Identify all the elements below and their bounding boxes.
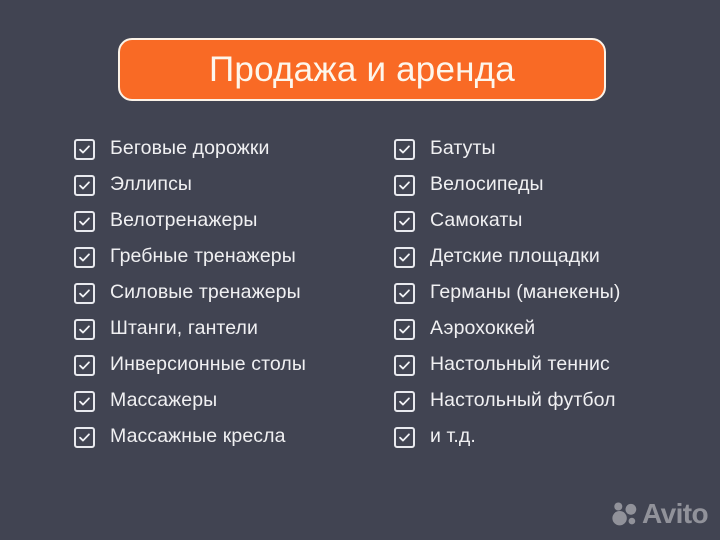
checklist-item-label: Штанги, гантели (110, 319, 258, 339)
checkbox-checked-icon[interactable] (74, 139, 95, 160)
checkbox-checked-icon[interactable] (394, 211, 415, 232)
page-title: Продажа и аренда (209, 52, 515, 87)
checklist-item-label: Силовые тренажеры (110, 283, 301, 303)
checklist-item[interactable]: Велотренажеры (74, 203, 384, 239)
checklist-item[interactable]: Настольный теннис (394, 347, 694, 383)
checklist-item-label: Велотренажеры (110, 211, 258, 231)
checklist-item-label: Массажеры (110, 391, 217, 411)
checklist-item[interactable]: Гребные тренажеры (74, 239, 384, 275)
checklist-item[interactable]: Батуты (394, 131, 694, 167)
checklist-item[interactable]: Аэрохоккей (394, 311, 694, 347)
checklist-item[interactable]: Силовые тренажеры (74, 275, 384, 311)
checklist-item[interactable]: Беговые дорожки (74, 131, 384, 167)
checkbox-checked-icon[interactable] (394, 247, 415, 268)
title-banner: Продажа и аренда (118, 38, 606, 101)
checklist-item-label: Аэрохоккей (430, 319, 535, 339)
checkbox-checked-icon[interactable] (74, 355, 95, 376)
checklist-item-label: Батуты (430, 139, 496, 159)
checklist-item-label: Велосипеды (430, 175, 544, 195)
checkbox-checked-icon[interactable] (394, 355, 415, 376)
checkbox-checked-icon[interactable] (74, 319, 95, 340)
avito-dots-logo-icon (612, 502, 637, 526)
checkbox-checked-icon[interactable] (394, 283, 415, 304)
checkbox-checked-icon[interactable] (74, 175, 95, 196)
checkbox-checked-icon[interactable] (394, 319, 415, 340)
checklist-item-label: Германы (манекены) (430, 283, 620, 303)
checklist-item-label: Гребные тренажеры (110, 247, 296, 267)
checklist-item-label: Настольный футбол (430, 391, 616, 411)
checkbox-checked-icon[interactable] (394, 391, 415, 412)
checklist-item[interactable]: Германы (манекены) (394, 275, 694, 311)
checklist-item-label: Самокаты (430, 211, 523, 231)
checkbox-checked-icon[interactable] (74, 283, 95, 304)
checklist-column-left: Беговые дорожкиЭллипсыВелотренажерыГребн… (74, 131, 384, 455)
checkbox-checked-icon[interactable] (394, 427, 415, 448)
checklist-item-label: Беговые дорожки (110, 139, 269, 159)
checklist-item[interactable]: Массажные кресла (74, 419, 384, 455)
checklist-item[interactable]: Массажеры (74, 383, 384, 419)
checklist-item[interactable]: Велосипеды (394, 167, 694, 203)
checklist-item-label: и т.д. (430, 427, 476, 447)
checkbox-checked-icon[interactable] (74, 391, 95, 412)
checkbox-checked-icon[interactable] (74, 247, 95, 268)
checklist-item-label: Настольный теннис (430, 355, 610, 375)
checklist-item-label: Массажные кресла (110, 427, 286, 447)
checkbox-checked-icon[interactable] (74, 211, 95, 232)
checklist-column-right: БатутыВелосипедыСамокатыДетские площадки… (394, 131, 694, 455)
checklist-item[interactable]: Настольный футбол (394, 383, 694, 419)
checklist-item[interactable]: Самокаты (394, 203, 694, 239)
checklist-item[interactable]: Штанги, гантели (74, 311, 384, 347)
checklist-item[interactable]: и т.д. (394, 419, 694, 455)
checklist-item-label: Детские площадки (430, 247, 600, 267)
checklist-item-label: Эллипсы (110, 175, 192, 195)
checklist-item-label: Инверсионные столы (110, 355, 306, 375)
slide-canvas: Продажа и аренда Беговые дорожкиЭллипсыВ… (0, 0, 720, 540)
checklist-item[interactable]: Эллипсы (74, 167, 384, 203)
checkbox-checked-icon[interactable] (394, 139, 415, 160)
checklist-item[interactable]: Детские площадки (394, 239, 694, 275)
checkbox-checked-icon[interactable] (74, 427, 95, 448)
checklist-item[interactable]: Инверсионные столы (74, 347, 384, 383)
avito-watermark: Avito (612, 500, 708, 528)
avito-wordmark: Avito (642, 500, 708, 528)
checkbox-checked-icon[interactable] (394, 175, 415, 196)
